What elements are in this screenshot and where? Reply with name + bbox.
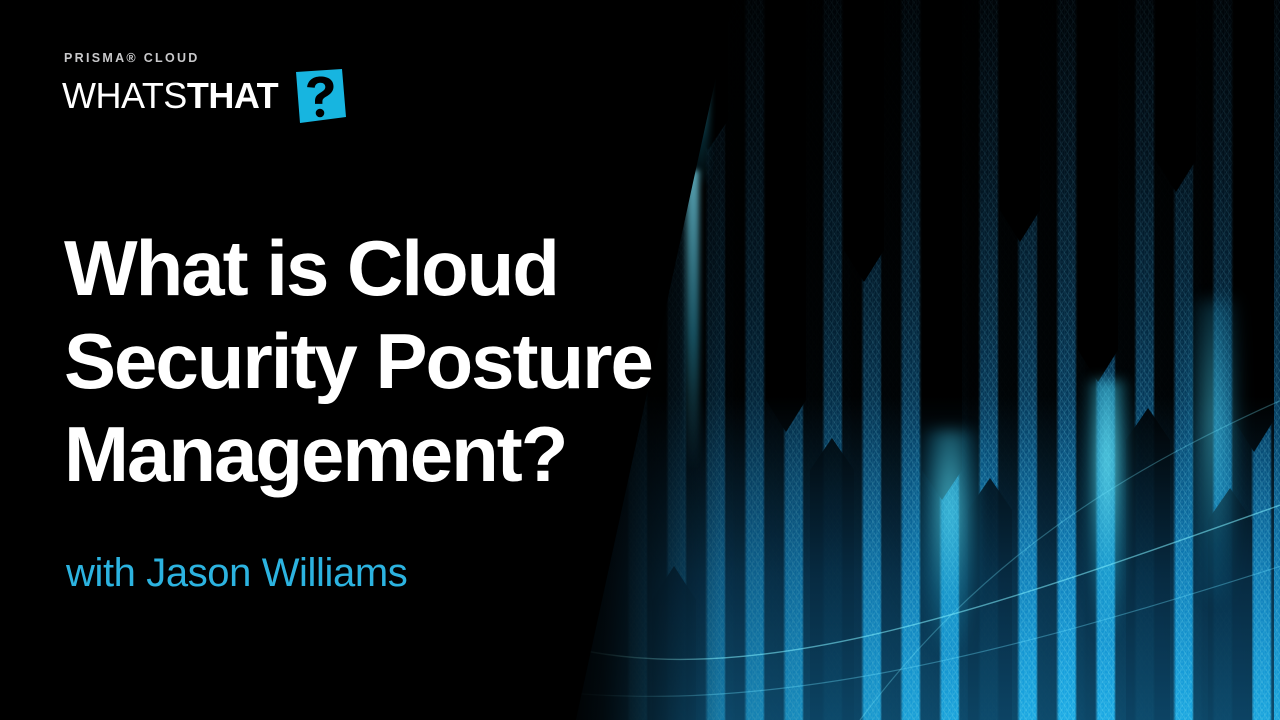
wordmark-bold-part: THAT bbox=[187, 78, 278, 114]
question-mark-badge-icon bbox=[290, 69, 348, 123]
brand-lockup[interactable]: PRISMA® CLOUD WHATS THAT bbox=[62, 52, 348, 123]
title-content: PRISMA® CLOUD WHATS THAT bbox=[0, 0, 700, 720]
brand-eyebrow: PRISMA® CLOUD bbox=[62, 52, 348, 65]
wordmark-light-part: WHATS bbox=[62, 78, 187, 114]
page-title: What is Cloud Security Posture Managemen… bbox=[64, 222, 764, 501]
wordmark: WHATS THAT bbox=[62, 78, 278, 114]
wordmark-row: WHATS THAT bbox=[62, 69, 348, 123]
presenter-subtitle: with Jason Williams bbox=[66, 551, 407, 595]
title-card-stage: PRISMA® CLOUD WHATS THAT bbox=[0, 0, 1280, 720]
